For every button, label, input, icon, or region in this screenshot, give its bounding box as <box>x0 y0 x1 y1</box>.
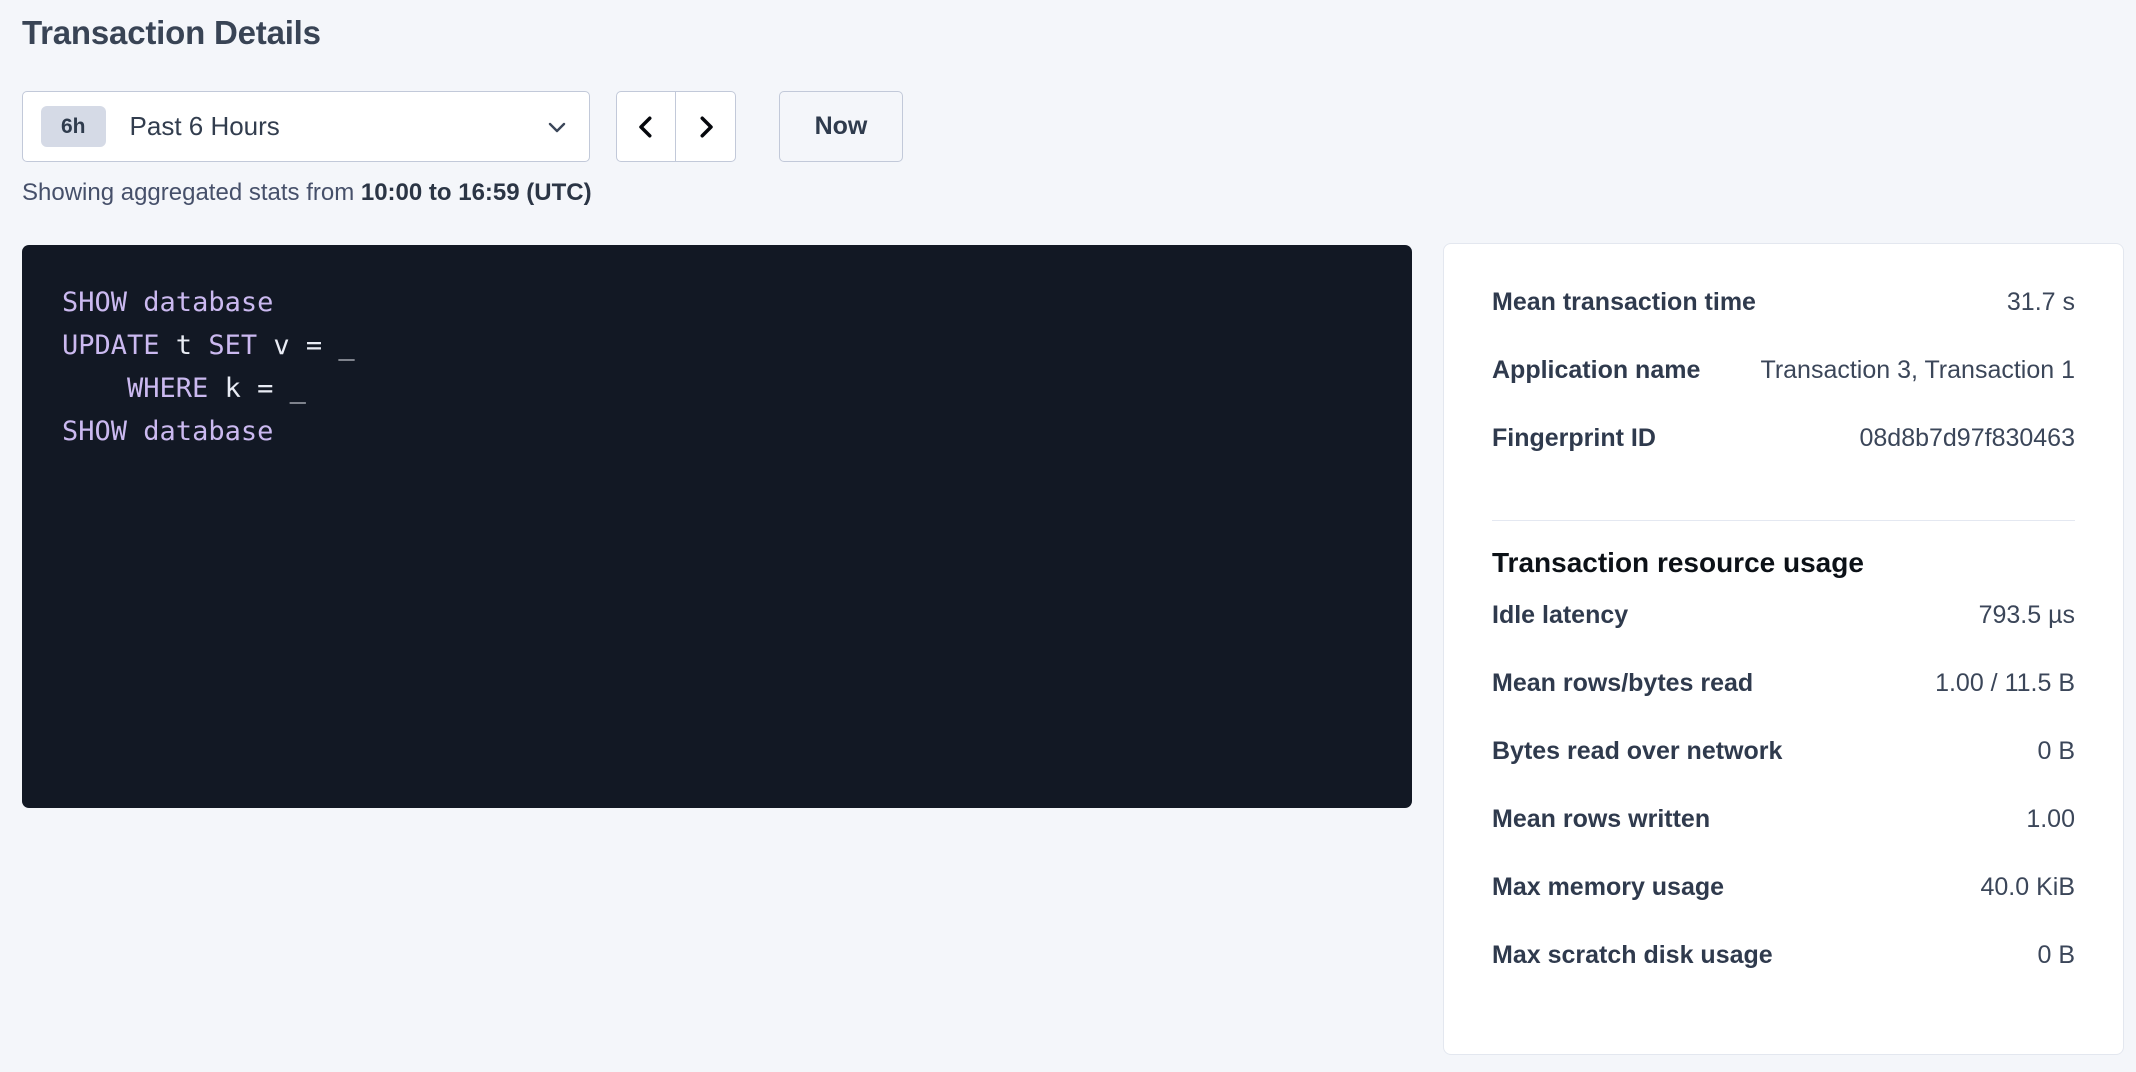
stat-value: 793.5 µs <box>1979 601 2075 630</box>
stat-label: Max scratch disk usage <box>1492 941 1773 970</box>
stat-label: Mean transaction time <box>1492 288 1756 317</box>
stat-row: Fingerprint ID 08d8b7d97f830463 <box>1492 424 2075 492</box>
chevron-left-icon <box>631 112 661 142</box>
time-range-value: Past 6 Hours <box>130 111 545 142</box>
stat-value: Transaction 3, Transaction 1 <box>1760 356 2075 385</box>
transaction-details-page: Transaction Details 6h Past 6 Hours <box>0 0 2136 1072</box>
stat-value: 31.7 s <box>2007 288 2075 317</box>
page-title: Transaction Details <box>22 14 321 52</box>
resource-stats-list: Idle latency 793.5 µs Mean rows/bytes re… <box>1492 601 2075 1009</box>
time-range-select[interactable]: 6h Past 6 Hours <box>22 91 590 162</box>
stat-label: Idle latency <box>1492 601 1628 630</box>
stat-label: Max memory usage <box>1492 873 1724 902</box>
chevron-right-icon <box>691 112 721 142</box>
aggregation-range-prefix: Showing aggregated stats from <box>22 179 361 206</box>
aggregation-range-value: 10:00 to 16:59 (UTC) <box>361 179 592 206</box>
transaction-stats-card: Mean transaction time 31.7 s Application… <box>1443 243 2124 1055</box>
stat-row: Mean rows/bytes read 1.00 / 11.5 B <box>1492 669 2075 737</box>
chevron-down-icon <box>545 115 569 139</box>
stat-value: 0 B <box>2037 737 2075 766</box>
stat-value: 0 B <box>2037 941 2075 970</box>
stat-row: Bytes read over network 0 B <box>1492 737 2075 805</box>
stat-row: Max memory usage 40.0 KiB <box>1492 873 2075 941</box>
stat-value: 1.00 / 11.5 B <box>1935 669 2075 698</box>
previous-period-button[interactable] <box>616 91 676 162</box>
stat-row: Application name Transaction 3, Transact… <box>1492 356 2075 424</box>
stat-row: Idle latency 793.5 µs <box>1492 601 2075 669</box>
stat-label: Mean rows written <box>1492 805 1710 834</box>
section-divider <box>1492 520 2075 521</box>
now-button[interactable]: Now <box>779 91 903 162</box>
stat-value: 40.0 KiB <box>1980 873 2075 902</box>
stat-row: Mean transaction time 31.7 s <box>1492 288 2075 356</box>
stat-label: Bytes read over network <box>1492 737 1782 766</box>
time-nav-group <box>616 91 736 162</box>
time-range-badge: 6h <box>41 106 106 147</box>
stat-row: Max scratch disk usage 0 B <box>1492 941 2075 1009</box>
toolbar: 6h Past 6 Hours <box>22 91 903 162</box>
sql-code-text: SHOW database UPDATE t SET v = _ WHERE k… <box>62 281 1372 453</box>
next-period-button[interactable] <box>676 91 736 162</box>
aggregation-range-text: Showing aggregated stats from 10:00 to 1… <box>22 179 592 207</box>
stat-value: 08d8b7d97f830463 <box>1859 424 2075 453</box>
stat-value: 1.00 <box>2026 805 2075 834</box>
stat-label: Application name <box>1492 356 1700 385</box>
stat-label: Fingerprint ID <box>1492 424 1656 453</box>
sql-code-block: SHOW database UPDATE t SET v = _ WHERE k… <box>22 245 1412 808</box>
stat-row: Mean rows written 1.00 <box>1492 805 2075 873</box>
overview-stats-list: Mean transaction time 31.7 s Application… <box>1492 288 2075 492</box>
resource-usage-heading: Transaction resource usage <box>1492 547 2075 579</box>
stat-label: Mean rows/bytes read <box>1492 669 1753 698</box>
